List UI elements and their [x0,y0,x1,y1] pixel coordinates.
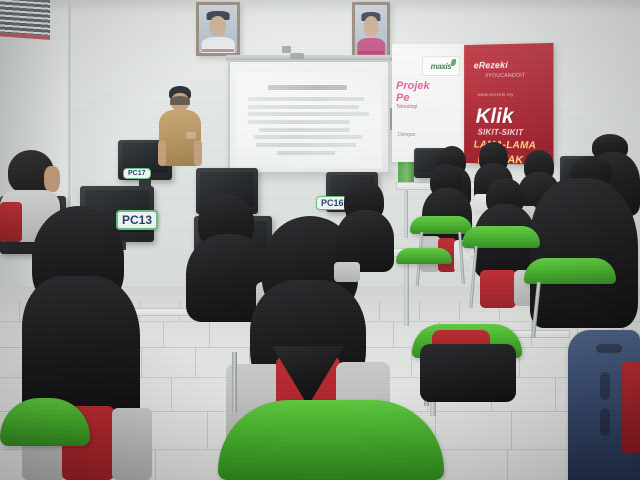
slide-text-line [277,151,335,155]
floor-tile [164,322,210,348]
student-shirt [622,362,640,454]
official-portrait-right [352,2,390,58]
wall-switch[interactable] [282,46,291,53]
wall-poster [0,0,50,40]
erezeki-hashtag: #YOUCANDOIT [485,73,525,79]
slide-text-line [254,135,362,139]
banner-title-line2: Pe [396,92,409,104]
ceiling-shadow [0,0,640,14]
shirt-red-panel [0,202,22,242]
slide-text-line [248,120,350,124]
whiteboard-clip [290,53,304,59]
chair[interactable] [410,216,472,234]
student [530,160,640,340]
chair-slot [600,372,610,400]
slide-text-line [248,112,369,116]
leaf-icon [451,59,456,66]
instructor-arm-right [194,140,202,166]
pc-label-17: PC17 [123,168,151,179]
erezeki-line2: SIKIT-SIKIT [478,128,524,138]
chair[interactable] [396,248,452,264]
scene-caption: Computer lab training session [0,475,640,480]
chair-leg [232,352,237,412]
chair[interactable] [218,400,444,480]
slide-text-line [248,105,359,109]
banner-subtitle: Teknologi [396,104,417,110]
official-portrait-left [196,2,240,56]
floor-tile [0,300,20,322]
desk-leg [404,256,409,326]
banner-title-line1: Projek [396,80,430,92]
chair-handle [596,344,622,353]
erezeki-url: www.erezeki.my [478,92,514,97]
desk-leg [404,190,408,238]
floor-tile [436,412,512,450]
student [330,180,400,280]
shirt-print [186,132,196,139]
classroom-photo: maxis Projek Pe Teknologi Dengan eRezeki… [0,0,640,480]
instructor [158,86,202,182]
floor-tile [420,300,460,322]
sponsor-banner: maxis Projek Pe Teknologi Dengan [392,44,464,162]
chair-slot [600,408,610,436]
projected-slide [236,72,382,168]
maxis-logo-text: maxis [431,62,452,71]
floor-tile [520,348,574,378]
instructor-hair-front [170,96,190,105]
slide-text-line [259,128,350,132]
banner-footer: Dengan [398,132,416,138]
chair[interactable] [524,258,616,284]
slide-text-line [248,97,365,101]
chair[interactable] [462,226,540,248]
hijab [420,344,516,402]
erezeki-headline: Klik [476,106,514,127]
instructor-arm-left [158,140,166,166]
slide-title-line [268,85,347,90]
slide-text-line [256,143,355,147]
maxis-logo: maxis [422,56,460,76]
